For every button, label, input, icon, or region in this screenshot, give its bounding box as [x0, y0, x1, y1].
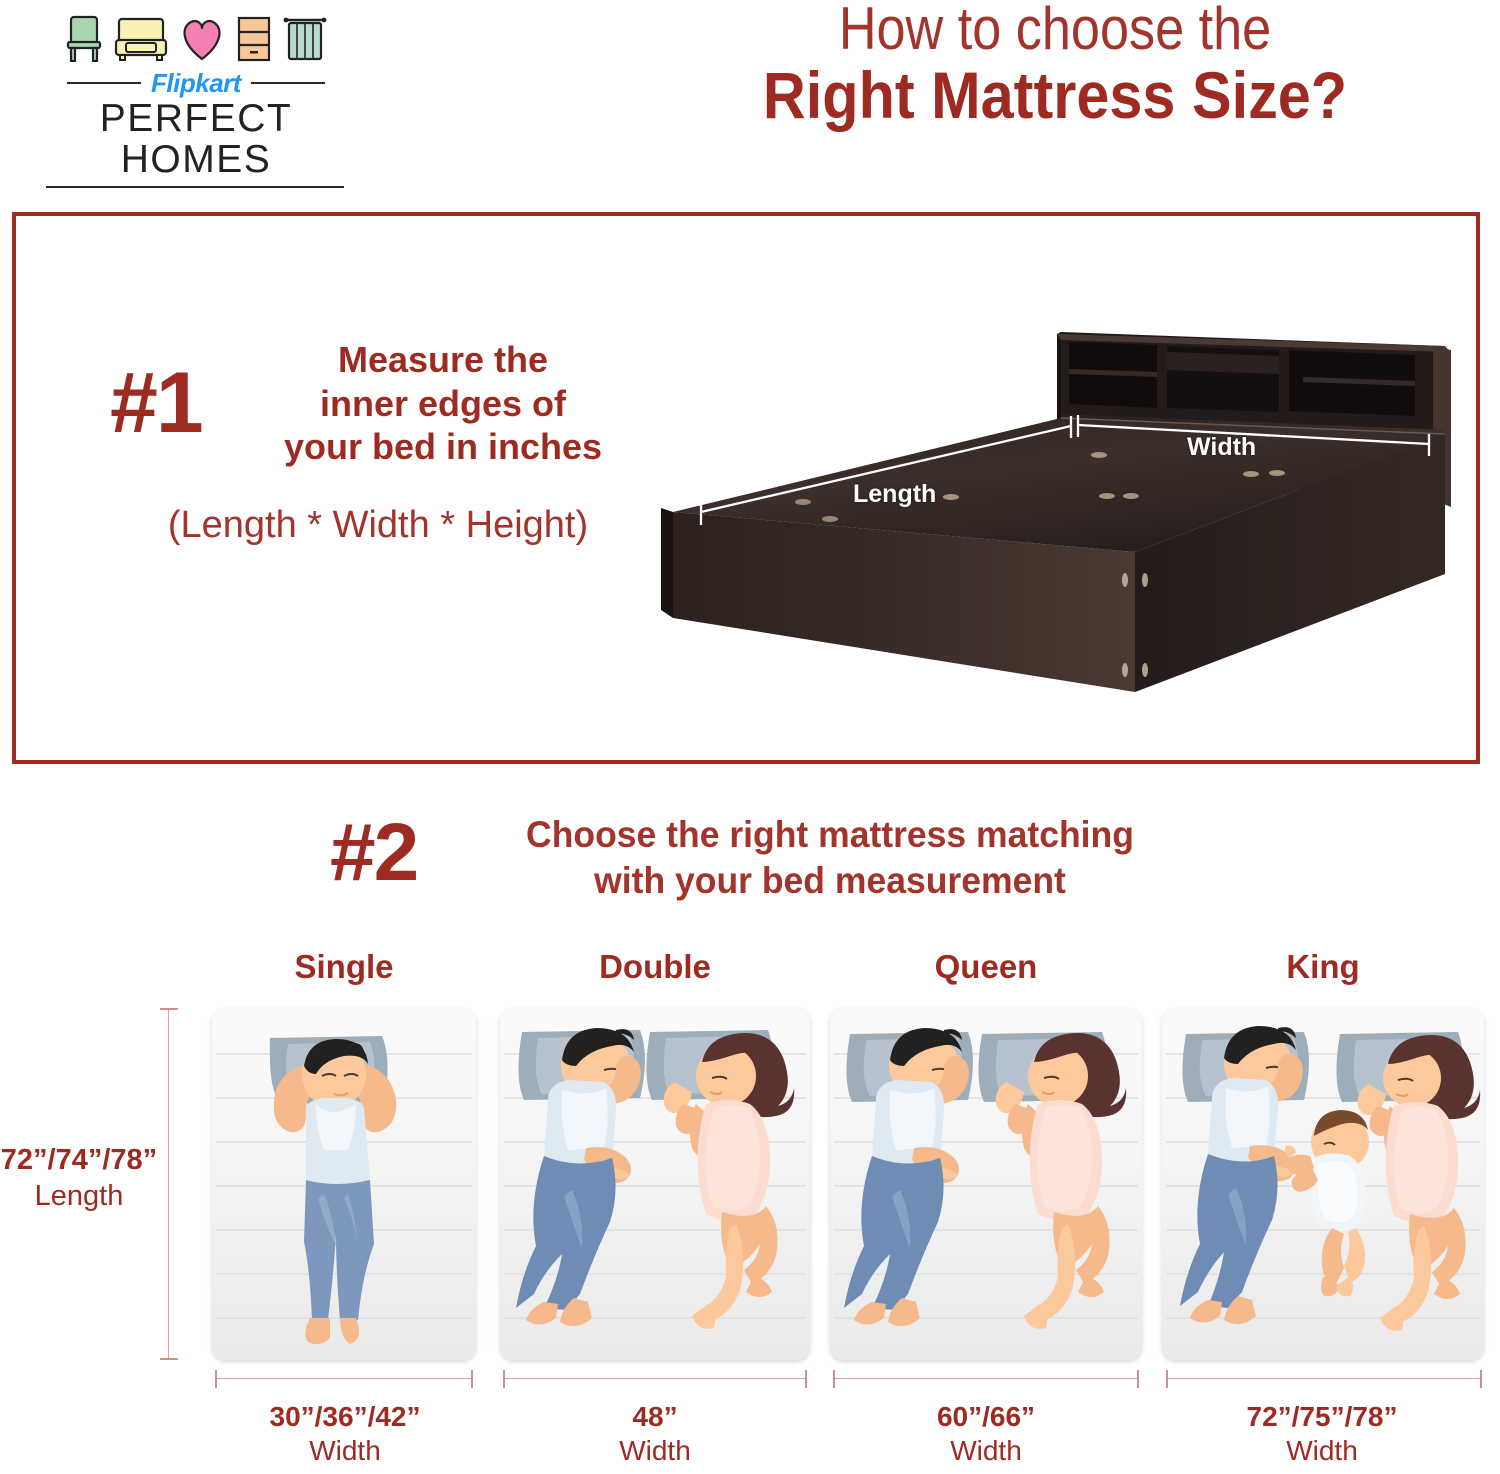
step-1-instruction: Measure the inner edges of your bed in i… [248, 338, 638, 469]
step-2-number: #2 [330, 812, 417, 894]
size-title-queen: Queen [830, 948, 1142, 986]
title-line-2: Right Mattress Size? [664, 61, 1447, 130]
width-label-king: 72”/75”/78” Width [1172, 1400, 1472, 1467]
size-title-single: Single [210, 948, 478, 986]
width-rule-king [1166, 1378, 1482, 1379]
step-1-line-2: inner edges of [248, 382, 638, 426]
width-tick-double-right [805, 1370, 807, 1388]
brand-name-text: PERFECT HOMES [46, 99, 346, 181]
mattress-double[interactable] [500, 1008, 810, 1360]
divider-right [251, 82, 325, 84]
width-label-double: 48” Width [505, 1400, 805, 1467]
page-title: How to choose the Right Mattress Size? [620, 0, 1490, 130]
step-1-line-1: Measure the [248, 338, 638, 382]
width-rule-double [503, 1378, 807, 1379]
infographic-page: Flipkart PERFECT HOMES How to choose the… [0, 0, 1500, 1474]
chair-icon [65, 14, 103, 62]
brand-underline [46, 186, 344, 188]
width-rule-queen [833, 1378, 1139, 1379]
title-line-1: How to choose the [677, 0, 1434, 59]
step-2-instruction: Choose the right mattress matching with … [470, 812, 1190, 905]
length-axis-caption: Length [0, 1178, 172, 1214]
mattress-single[interactable] [212, 1008, 476, 1360]
curtain-icon [283, 14, 327, 62]
width-caption-queen: Width [836, 1434, 1136, 1468]
divider-left [67, 82, 141, 84]
step-1-subtitle: (Length * Width * Height) [118, 505, 638, 547]
width-label-single: 30”/36”/42” Width [195, 1400, 495, 1467]
brand-logo: Flipkart PERFECT HOMES [46, 10, 346, 188]
width-tick-queen-left [833, 1370, 835, 1388]
width-tick-queen-right [1137, 1370, 1139, 1388]
width-tick-double-left [503, 1370, 505, 1388]
mattress-queen[interactable] [830, 1008, 1142, 1360]
width-label-queen: 60”/66” Width [836, 1400, 1136, 1467]
bed-width-label: Width [1187, 433, 1256, 462]
size-title-king: King [1162, 948, 1484, 986]
width-caption-double: Width [505, 1434, 805, 1468]
sofa-icon [114, 14, 168, 62]
brand-flipkart-text: Flipkart [151, 70, 241, 96]
step-2-line-2: with your bed measurement [484, 858, 1175, 904]
width-tick-single-left [215, 1370, 217, 1388]
width-rule-single [215, 1378, 473, 1379]
length-tick-top [160, 1008, 178, 1010]
bed-illustration: Width Length [655, 322, 1455, 722]
width-tick-single-right [471, 1370, 473, 1388]
step-2-line-1: Choose the right mattress matching [484, 812, 1175, 858]
size-title-double: Double [500, 948, 810, 986]
width-tick-king-right [1480, 1370, 1482, 1388]
length-axis-label: 72”/74”/78” Length [0, 1142, 172, 1215]
length-axis-value: 72”/74”/78” [1, 1144, 157, 1176]
brand-flipkart-row: Flipkart [46, 70, 346, 96]
bed-length-label: Length [853, 480, 936, 509]
logo-icon-row [46, 10, 346, 62]
step-1-number: #1 [110, 360, 202, 446]
width-tick-king-left [1166, 1370, 1168, 1388]
drawer-cabinet-icon [236, 14, 272, 62]
width-caption-single: Width [195, 1434, 495, 1468]
width-value-queen: 60”/66” [937, 1401, 1035, 1432]
mattress-king[interactable] [1162, 1008, 1484, 1360]
width-value-single: 30”/36”/42” [270, 1401, 421, 1432]
heart-icon [179, 14, 225, 62]
width-caption-king: Width [1172, 1434, 1472, 1468]
width-value-double: 48” [632, 1401, 677, 1432]
width-value-king: 72”/75”/78” [1247, 1401, 1398, 1432]
length-tick-bottom [160, 1358, 178, 1360]
step-1-line-3: your bed in inches [248, 425, 638, 469]
